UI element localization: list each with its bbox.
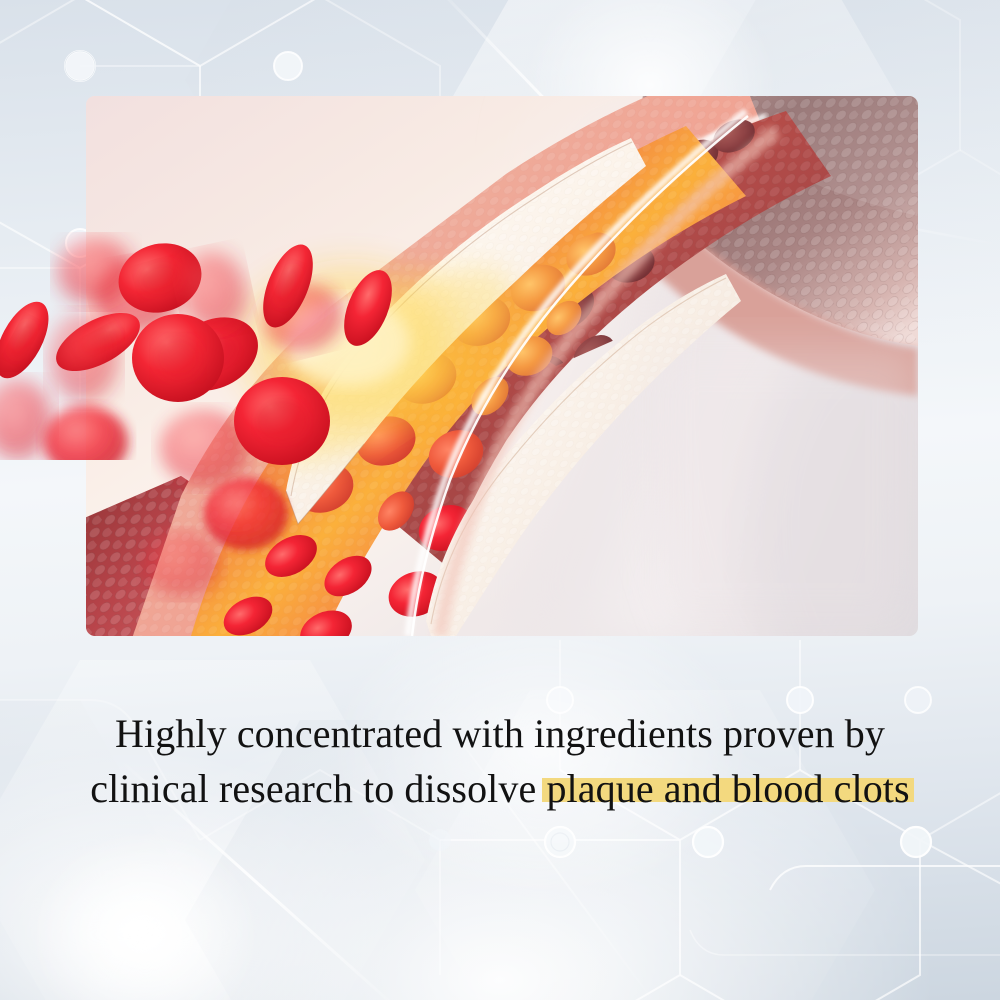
caption-highlight-phrase: plaque and blood clots [546,761,909,816]
infographic-canvas: Highly concentrated with ingredients pro… [0,0,1000,1000]
caption-line-1: Highly concentrated with ingredients pro… [0,706,1000,761]
red-blood-cells-floating-outside [0,230,340,460]
caption-line-2-prefix: clinical research to dissolve [90,766,546,811]
caption-block: Highly concentrated with ingredients pro… [0,706,1000,816]
caption-line-2: clinical research to dissolve plaque and… [0,761,1000,816]
